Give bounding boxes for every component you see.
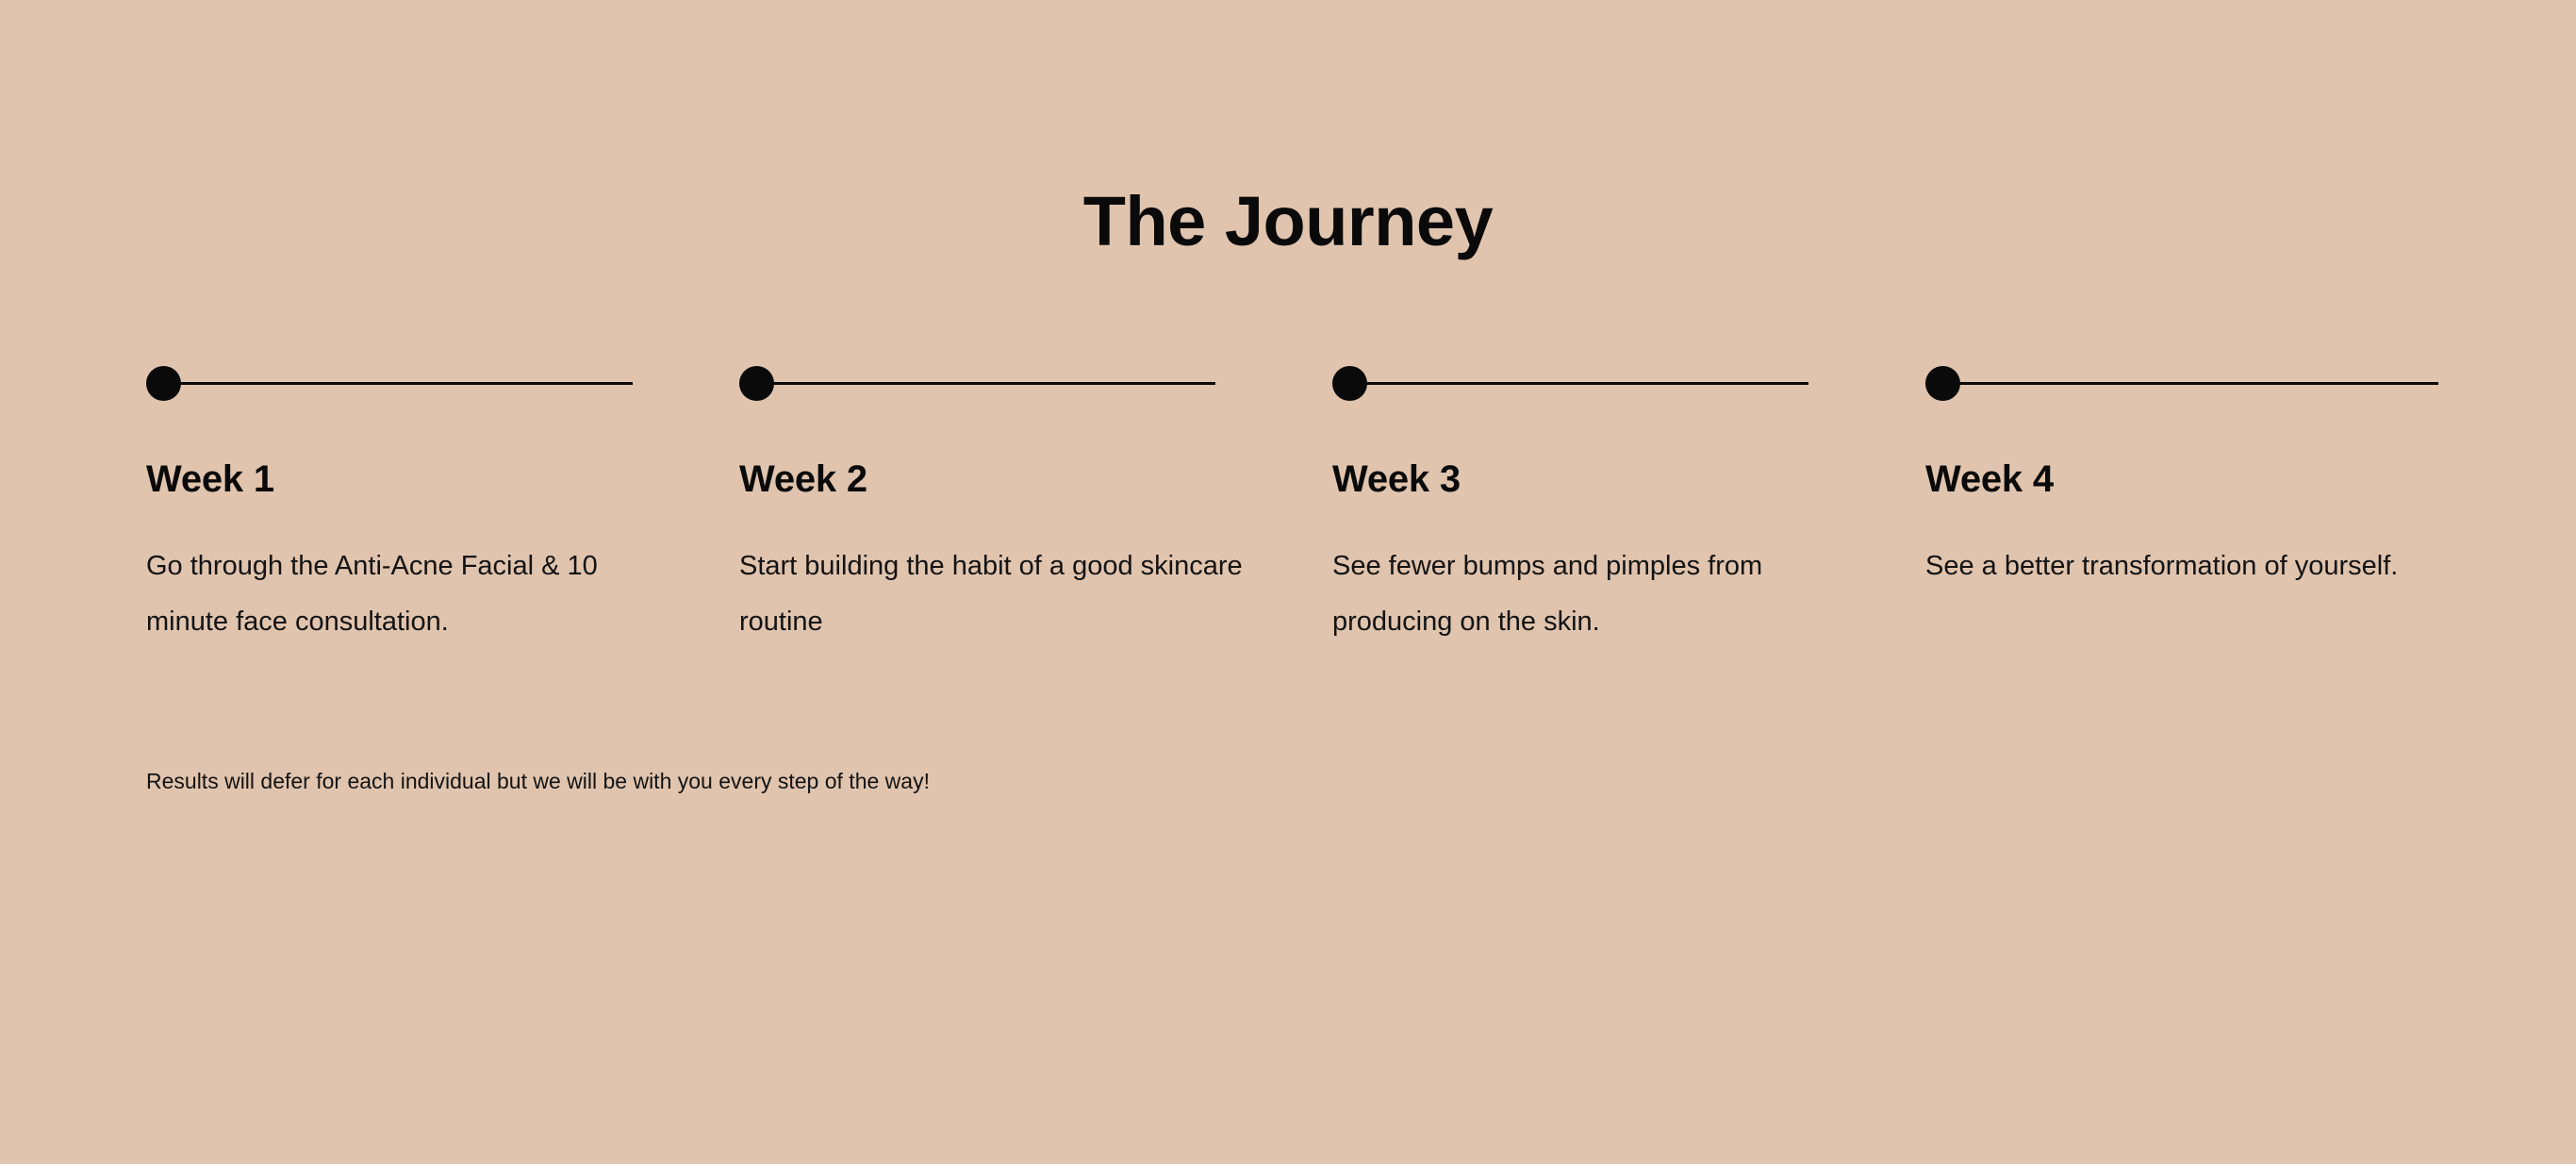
timeline-rail <box>1349 382 1808 385</box>
timeline-rail <box>1942 382 2438 385</box>
timeline-marker <box>146 366 739 404</box>
timeline-rail <box>163 382 633 385</box>
timeline-marker <box>1332 366 1925 404</box>
step-description: Go through the Anti-Acne Facial & 10 min… <box>146 539 674 650</box>
timeline-step-week-2: Week 2 Start building the habit of a goo… <box>739 366 1332 404</box>
step-description: Start building the habit of a good skinc… <box>739 539 1267 650</box>
filled-circle-icon <box>1332 366 1367 401</box>
timeline-marker <box>739 366 1332 404</box>
filled-circle-icon <box>1925 366 1960 401</box>
step-description: See fewer bumps and pimples from produci… <box>1332 539 1860 650</box>
timeline: Week 1 Go through the Anti-Acne Facial &… <box>146 366 2432 894</box>
disclaimer-text: Results will defer for each individual b… <box>146 766 930 796</box>
step-title: Week 4 <box>1925 458 2054 500</box>
step-description: See a better transformation of yourself. <box>1925 539 2453 594</box>
timeline-marker <box>1925 366 2518 404</box>
page-title: The Journey <box>0 187 2576 257</box>
filled-circle-icon <box>739 366 774 401</box>
step-title: Week 2 <box>739 458 867 500</box>
filled-circle-icon <box>146 366 181 401</box>
step-title: Week 1 <box>146 458 274 500</box>
timeline-step-week-1: Week 1 Go through the Anti-Acne Facial &… <box>146 366 739 404</box>
step-title: Week 3 <box>1332 458 1461 500</box>
timeline-step-week-4: Week 4 See a better transformation of yo… <box>1925 366 2518 404</box>
timeline-step-week-3: Week 3 See fewer bumps and pimples from … <box>1332 366 1925 404</box>
timeline-rail <box>756 382 1215 385</box>
journey-section: The Journey Week 1 Go through the Anti-A… <box>0 0 2576 1164</box>
